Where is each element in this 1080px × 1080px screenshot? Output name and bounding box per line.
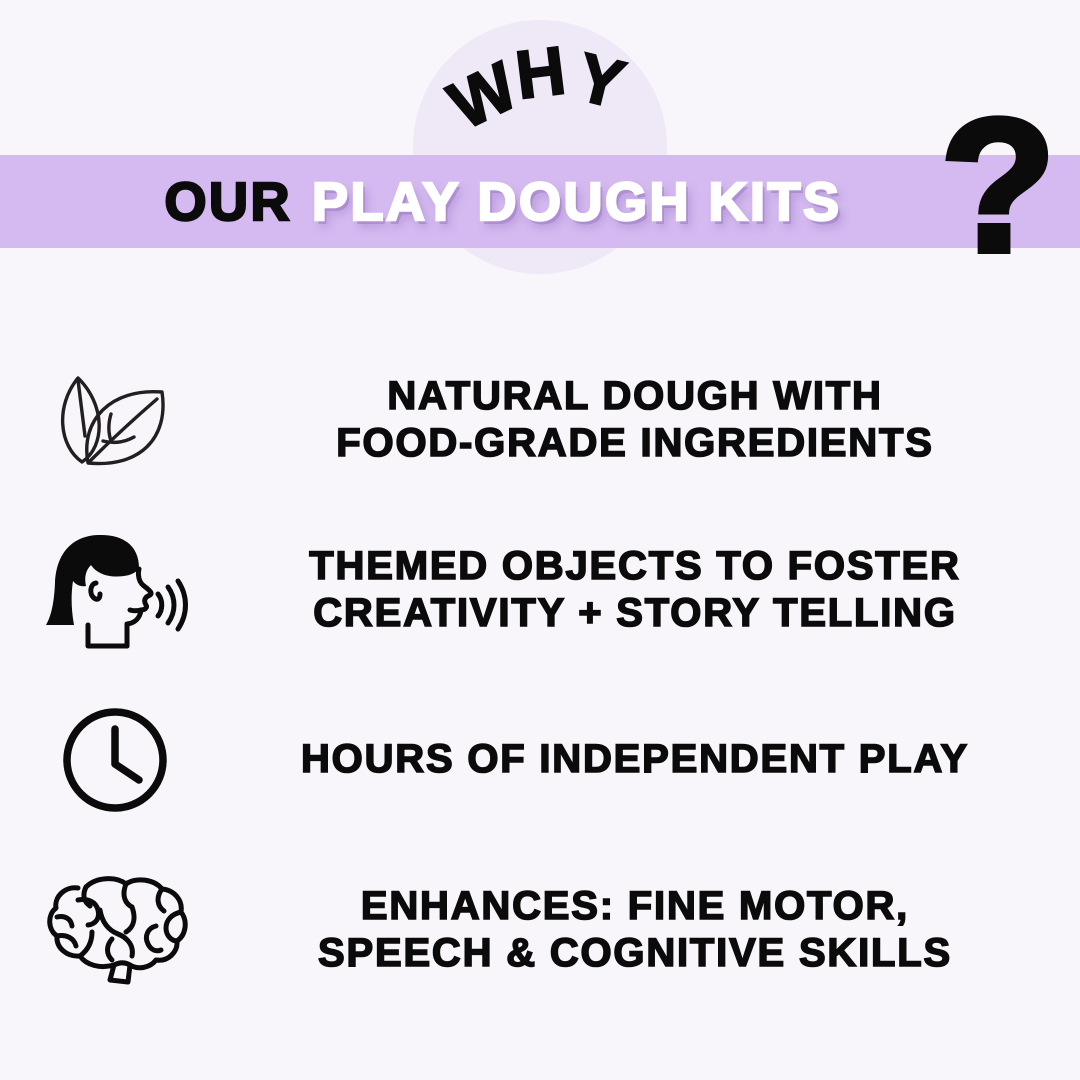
feature-list: NATURAL DOUGH WITH FOOD-GRADE INGREDIENT… bbox=[0, 330, 1080, 1030]
feature-line: FOOD-GRADE INGREDIENTS bbox=[230, 420, 1040, 467]
feature-line: NATURAL DOUGH WITH bbox=[230, 373, 1040, 420]
header: W H Y OUR PLAY DOUGH KITS ? bbox=[0, 0, 1080, 300]
speaking-head-icon bbox=[0, 520, 230, 660]
feature-row: THEMED OBJECTS TO FOSTER CREATIVITY + ST… bbox=[0, 520, 1080, 660]
feature-row: NATURAL DOUGH WITH FOOD-GRADE INGREDIENT… bbox=[0, 350, 1080, 490]
feature-line: CREATIVITY + STORY TELLING bbox=[230, 590, 1040, 637]
brain-icon bbox=[0, 860, 230, 1000]
feature-line: ENHANCES: FINE MOTOR, bbox=[230, 883, 1040, 930]
feature-text: THEMED OBJECTS TO FOSTER CREATIVITY + ST… bbox=[230, 543, 1080, 637]
banner-word-our: OUR bbox=[164, 175, 292, 229]
feature-line: SPEECH & COGNITIVE SKILLS bbox=[230, 930, 1040, 977]
question-mark: ? bbox=[940, 96, 1040, 276]
feature-text: NATURAL DOUGH WITH FOOD-GRADE INGREDIENT… bbox=[230, 373, 1080, 467]
leaves-icon bbox=[0, 350, 230, 490]
feature-text: ENHANCES: FINE MOTOR, SPEECH & COGNITIVE… bbox=[230, 883, 1080, 977]
clock-icon bbox=[0, 695, 230, 825]
banner-headline: OUR PLAY DOUGH KITS bbox=[0, 155, 1080, 248]
feature-row: HOURS OF INDEPENDENT PLAY bbox=[0, 695, 1080, 825]
feature-line: THEMED OBJECTS TO FOSTER bbox=[230, 543, 1040, 590]
feature-text: HOURS OF INDEPENDENT PLAY bbox=[230, 736, 1080, 783]
feature-line: HOURS OF INDEPENDENT PLAY bbox=[230, 736, 1040, 783]
banner-word-play-dough-kits: PLAY DOUGH KITS bbox=[312, 175, 842, 229]
feature-row: ENHANCES: FINE MOTOR, SPEECH & COGNITIVE… bbox=[0, 860, 1080, 1000]
